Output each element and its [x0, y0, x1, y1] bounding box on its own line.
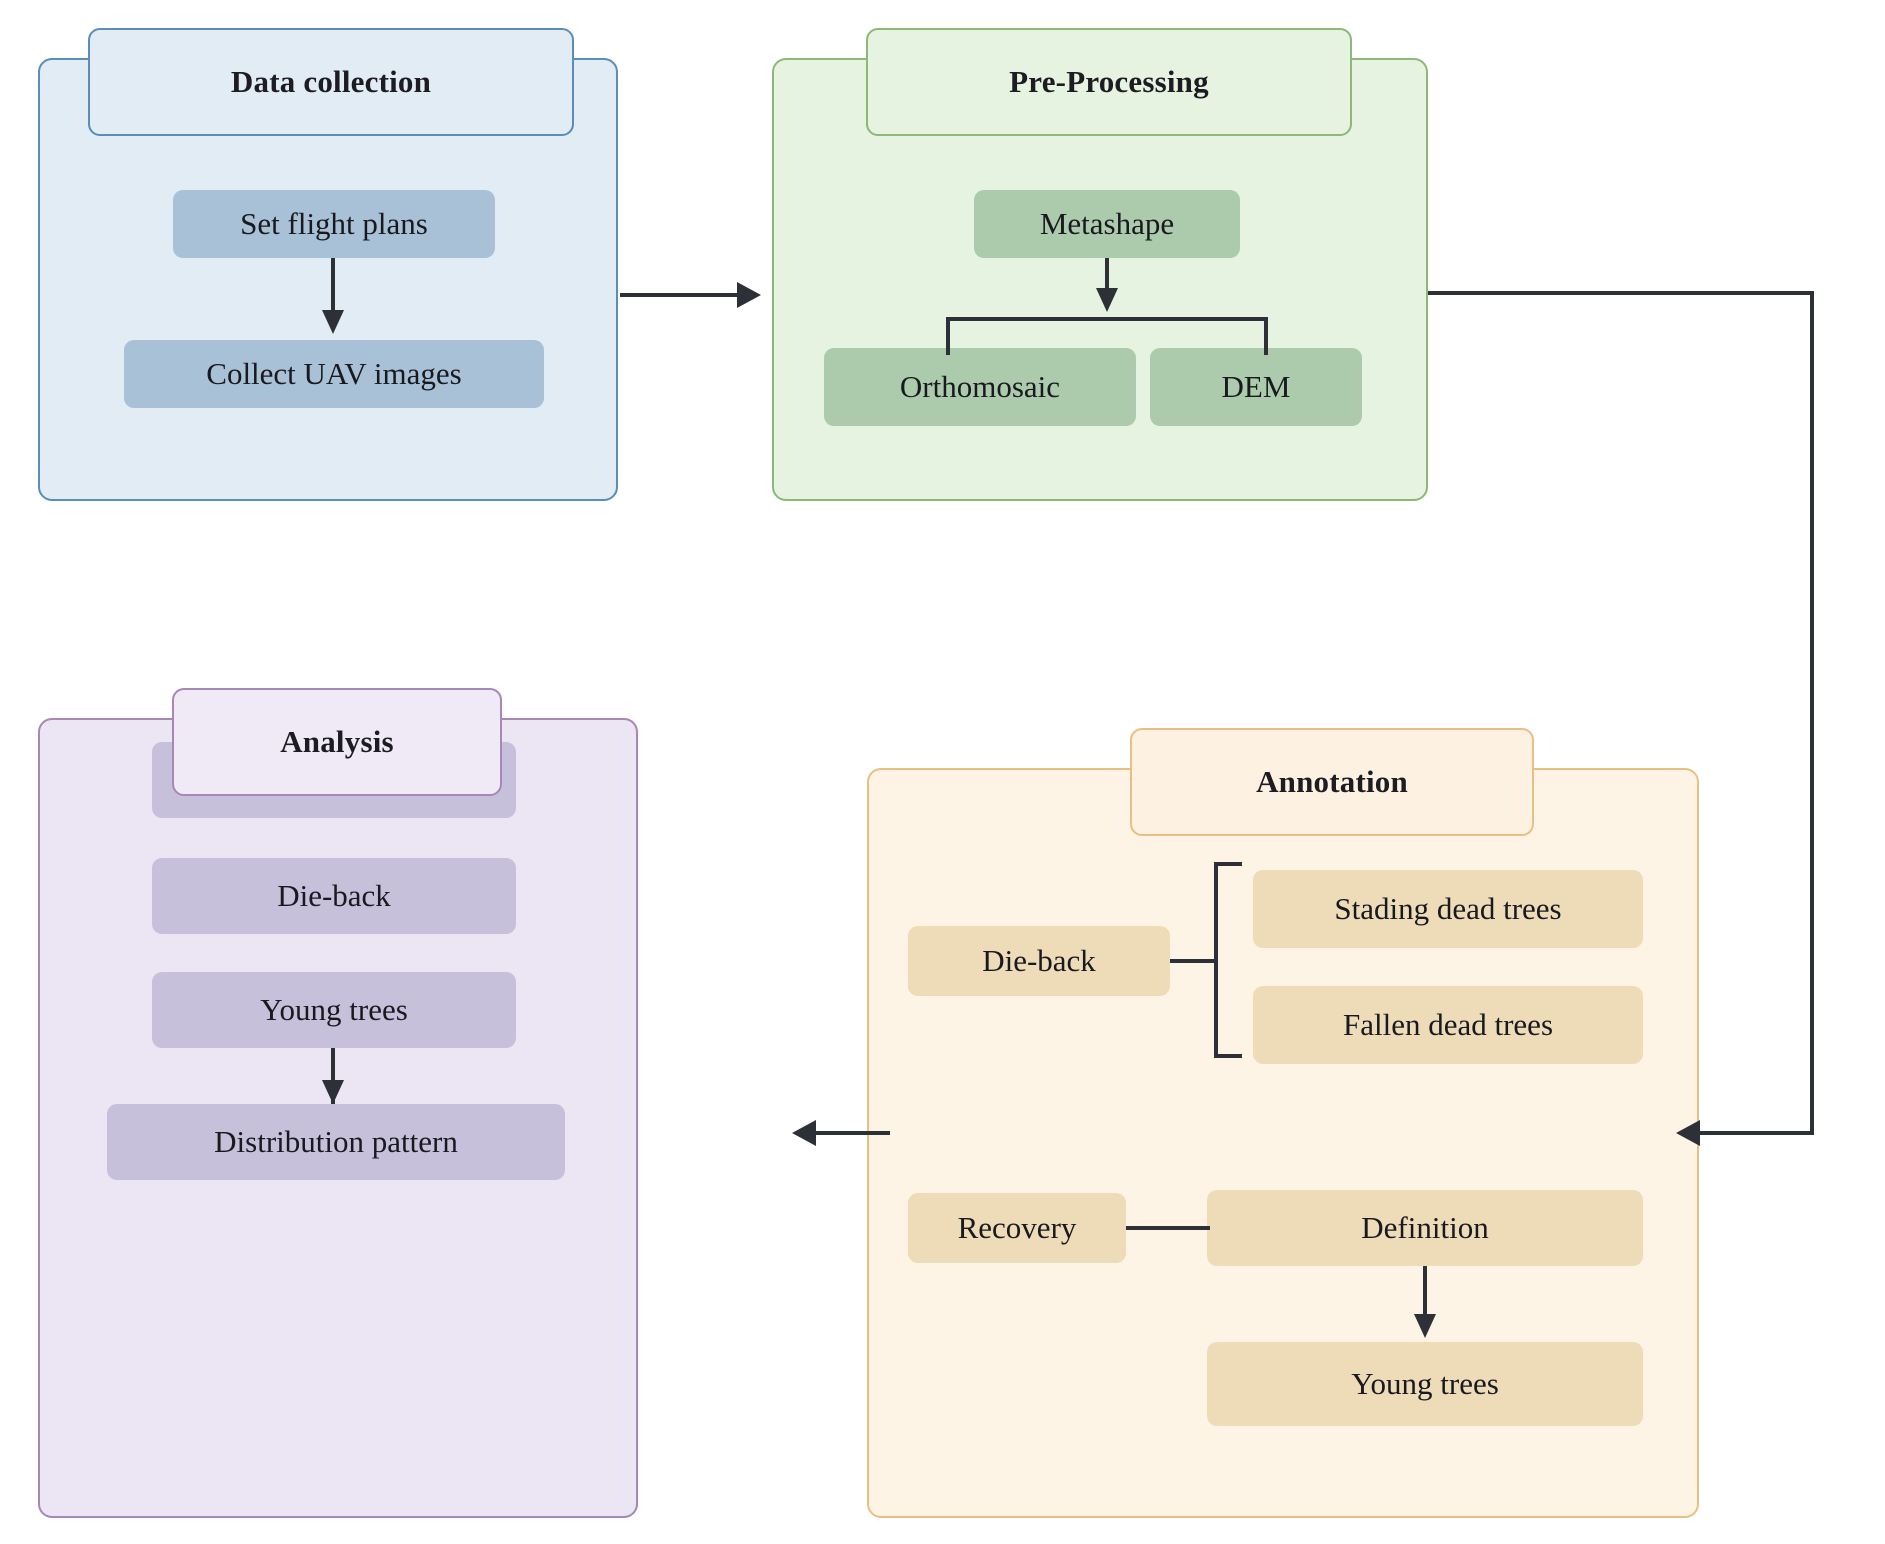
connector-split-bracket-horizontal [946, 317, 1268, 321]
connector-split-bracket-left-drop [946, 317, 950, 355]
node-annotation-young-trees: Young trees [1207, 1342, 1643, 1426]
panel-title-annotation: Annotation [1130, 728, 1534, 836]
node-annotation-die-back-label: Die-back [982, 943, 1096, 979]
node-set-flight-plans-label: Set flight plans [240, 206, 428, 242]
connector-preprocessing-to-annotation-bottom [1700, 1131, 1814, 1135]
node-fallen-dead-trees-label: Fallen dead trees [1343, 1007, 1553, 1043]
node-annotation-young-trees-label: Young trees [1351, 1366, 1499, 1402]
node-distribution-pattern: Distribution pattern [107, 1104, 565, 1180]
node-definition: Definition [1207, 1190, 1643, 1266]
workflow-diagram: Data collection Set flight plans Collect… [0, 0, 1885, 1544]
connector-flightplans-to-uav-arrowhead [322, 310, 344, 334]
node-set-flight-plans: Set flight plans [173, 190, 495, 258]
panel-title-pre-processing: Pre-Processing [866, 28, 1352, 136]
connector-datacollection-to-preprocessing-line [620, 293, 740, 297]
node-recovery: Recovery [908, 1193, 1126, 1263]
node-dem-label: DEM [1222, 369, 1291, 405]
connector-recovery-to-definition [1126, 1226, 1210, 1230]
panel-title-pre-processing-label: Pre-Processing [1009, 64, 1209, 100]
connector-dieback-bracket-spine [1214, 862, 1218, 1058]
node-collect-uav-images-label: Collect UAV images [206, 356, 461, 392]
panel-title-analysis: Analysis [172, 688, 502, 796]
node-stading-dead-trees: Stading dead trees [1253, 870, 1643, 948]
connector-preprocessing-to-annotation-arrowhead [1676, 1120, 1700, 1146]
connector-preprocessing-to-annotation-vertical [1810, 291, 1814, 1135]
connector-dieback-stem [1170, 959, 1216, 963]
node-recovery-label: Recovery [958, 1210, 1077, 1246]
connector-datacollection-to-preprocessing-arrowhead [737, 282, 761, 308]
connector-preprocessing-to-annotation-top [1428, 291, 1814, 295]
node-analysis-die-back: Die-back [152, 858, 516, 934]
connector-metashape-arrowhead [1096, 288, 1118, 312]
connector-split-bracket-right-drop [1264, 317, 1268, 355]
panel-title-data-collection-label: Data collection [231, 64, 431, 100]
connector-dieback-bracket-top-arm [1214, 862, 1242, 866]
node-annotation-die-back: Die-back [908, 926, 1170, 996]
connector-annotation-to-analysis-line [816, 1131, 890, 1135]
node-distribution-pattern-label: Distribution pattern [214, 1124, 458, 1160]
node-dem: DEM [1150, 348, 1362, 426]
node-fallen-dead-trees: Fallen dead trees [1253, 986, 1643, 1064]
node-metashape: Metashape [974, 190, 1240, 258]
panel-title-data-collection: Data collection [88, 28, 574, 136]
connector-youngtrees-to-distribution-arrowhead [322, 1080, 344, 1104]
node-analysis-young-trees-label: Young trees [260, 992, 408, 1028]
connector-dieback-bracket-bottom-arm [1214, 1054, 1242, 1058]
node-definition-label: Definition [1361, 1210, 1488, 1246]
panel-title-annotation-label: Annotation [1256, 764, 1408, 800]
node-collect-uav-images: Collect UAV images [124, 340, 544, 408]
node-stading-dead-trees-label: Stading dead trees [1334, 891, 1561, 927]
node-analysis-young-trees: Young trees [152, 972, 516, 1048]
node-metashape-label: Metashape [1040, 206, 1174, 242]
node-orthomosaic: Orthomosaic [824, 348, 1136, 426]
connector-definition-to-youngtrees-arrowhead [1414, 1314, 1436, 1338]
panel-title-analysis-label: Analysis [280, 724, 394, 760]
node-analysis-die-back-label: Die-back [277, 878, 391, 914]
node-orthomosaic-label: Orthomosaic [900, 369, 1060, 405]
connector-annotation-to-analysis-arrowhead [792, 1120, 816, 1146]
